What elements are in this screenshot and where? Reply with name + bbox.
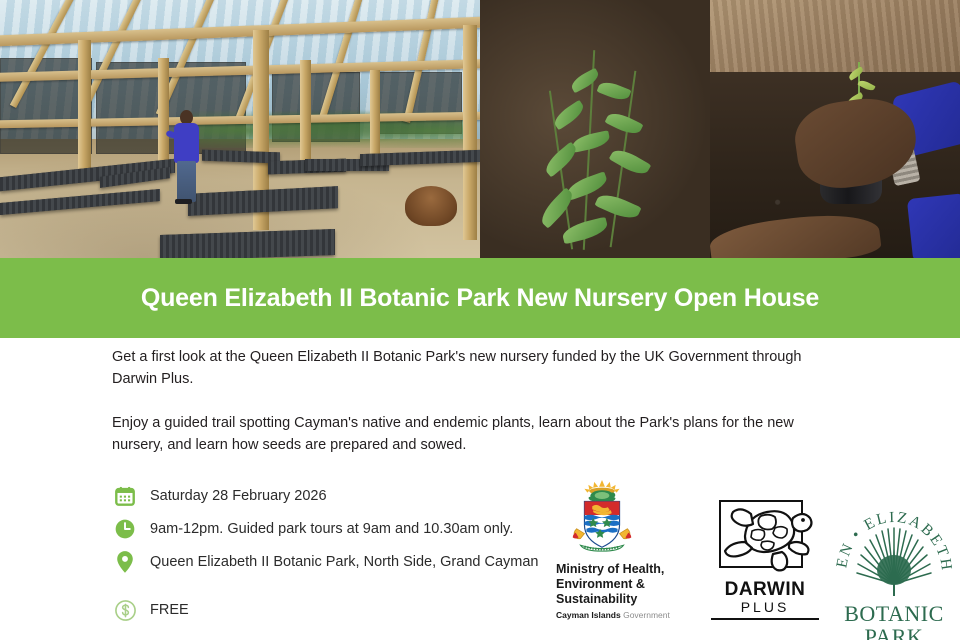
plant-leaf: [609, 145, 652, 179]
plant-leaf: [597, 79, 632, 104]
logo-row: Ministry of Health, Environment & Sustai…: [548, 478, 960, 640]
darwin-plus-wordmark: PLUS: [706, 599, 824, 615]
worker-shoe: [175, 199, 192, 204]
blue-sleeve: [907, 193, 960, 258]
plant-leaf: [571, 130, 611, 153]
seedling-leaf: [847, 66, 864, 80]
tree-stump: [405, 186, 457, 226]
cayman-islands-coat-of-arms-icon: [566, 478, 638, 556]
turtle-icon: [721, 498, 817, 574]
ministry-name: Ministry of Health, Environment & Sustai…: [556, 562, 696, 607]
event-flyer: Queen Elizabeth II Botanic Park New Nurs…: [0, 0, 960, 640]
nursery-structure-photo: [0, 0, 480, 258]
darwin-plus-logo: DARWIN PLUS: [706, 496, 824, 620]
location-pin-icon: [112, 549, 138, 575]
native-plant: [536, 50, 686, 250]
worker-blue-shirt: [174, 123, 199, 163]
detail-time-text: 9am-12pm. Guided park tours at 9am and 1…: [150, 521, 513, 537]
planting-seedling-photo: [480, 0, 960, 258]
dollar-circle-icon: [112, 597, 138, 623]
darwin-wordmark: DARWIN: [706, 580, 824, 599]
detail-location-text: Queen Elizabeth II Botanic Park, North S…: [150, 554, 538, 570]
title-banner: Queen Elizabeth II Botanic Park New Nurs…: [0, 258, 960, 338]
ministry-name-line-1: Ministry of Health,: [556, 562, 696, 577]
ministry-name-line-3: Sustainability: [556, 592, 696, 607]
plant-leaf: [551, 100, 587, 131]
darwin-plus-turtle-icon: [713, 496, 817, 580]
nursery-worker: [172, 110, 200, 202]
timber-post: [300, 60, 311, 170]
timber-post: [463, 25, 477, 240]
photo-strip: [0, 0, 960, 258]
clock-icon: [112, 516, 138, 542]
intro-paragraph: Get a first look at the Queen Elizabeth …: [112, 346, 848, 390]
plant-leaf: [537, 187, 578, 228]
ministry-subtitle-dark: Cayman Islands: [556, 610, 621, 620]
calendar-icon: [112, 483, 138, 509]
grow-bench: [160, 229, 335, 258]
timber-post: [78, 40, 91, 170]
park-wordmark-line-2: PARK: [832, 625, 956, 640]
activities-paragraph: Enjoy a guided trail spotting Cayman's n…: [112, 412, 848, 456]
plant-leaf: [605, 109, 644, 138]
page-title: Queen Elizabeth II Botanic Park New Nurs…: [141, 284, 819, 313]
timber-post: [370, 70, 380, 165]
ministry-name-line-2: Environment &: [556, 577, 696, 592]
ministry-logo: Ministry of Health, Environment & Sustai…: [556, 478, 696, 621]
park-wordmark-line-1: BOTANIC: [832, 603, 956, 625]
qeii-botanic-park-logo: QUEEN • ELIZABETH • II: [832, 492, 956, 640]
detail-date-text: Saturday 28 February 2026: [150, 488, 327, 504]
ministry-subtitle: Cayman Islands Government: [556, 610, 696, 621]
darwin-underline: [711, 618, 819, 620]
detail-price-text: FREE: [150, 602, 189, 618]
ministry-subtitle-grey: Government: [621, 610, 670, 620]
worker-jeans: [177, 161, 196, 202]
